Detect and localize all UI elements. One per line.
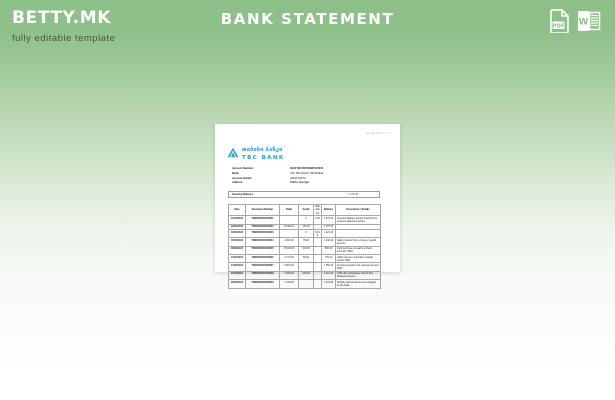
word-file-icon[interactable]: W [577,9,601,38]
table-row: 03/03/2024 TRN0000000000003 0 52.00 1 22… [229,229,381,237]
table-header-row: Date Document Number Debit Credit Curren… [229,204,381,215]
opening-balance-label: Opening Balance [232,193,330,196]
table-row: 12/03/2024 TRN0000000000006 4 270.00 60.… [229,255,381,263]
cell-currency [314,238,322,246]
cell-balance: 1 275.40 [322,216,336,224]
cell-description: Opening balance carried forward from pre… [336,216,381,224]
account-info-block: Account Number: GE11TB7238736080100003 B… [232,167,382,185]
cell-currency: 0.00 [314,216,322,224]
account-info-row: Address: Tbilisi, Georgia [232,181,382,186]
cell-currency [314,255,322,263]
cell-balance: 1 241.40 [322,271,336,279]
tbc-logo-text: თიბისი ბანკი TBC BANK [242,139,285,161]
tbc-triangle-icon [227,145,239,156]
cell-credit: 310.00 [299,246,314,254]
address-value: Tbilisi, Georgia [290,181,382,186]
column-header-debit: Debit [280,204,299,215]
tbc-logo-georgian: თიბისი ბანკი [242,147,282,153]
cell-currency [314,246,322,254]
cell-currency: 52.00 [314,229,322,237]
column-header-currency: Currency [314,204,322,215]
statement-document-preview[interactable]: Tel: +995 32 2 27 27 27 თიბისი ბანკი TBC… [215,124,400,272]
column-header-balance: Balance [322,204,336,215]
cell-credit [299,263,314,271]
address-label: Address: [232,181,290,186]
cell-date: 12/03/2024 [229,255,246,263]
cell-currency [314,280,322,288]
svg-text:W: W [579,18,589,28]
table-row: 08/03/2024 TRN0000000000005 15 400.00 31… [229,246,381,254]
cell-debit [280,229,299,237]
cell-description: Salary transfer from employer payroll ac… [336,238,381,246]
cell-debit: 15 400.00 [280,246,299,254]
cell-date: 05/03/2024 [229,238,246,246]
cell-document: TRN0000000000001 [246,216,280,224]
opening-balance-value: 1 275.40 [330,193,376,196]
opening-balance-bar: Opening Balance 1 275.40 [228,191,380,198]
cell-date: 03/03/2024 [229,229,246,237]
top-bar: BETTY.MK fully editable template BANK ST… [0,0,615,52]
table-row: 28/03/2024 TRN0000000000009 1 720.00 1 2… [229,280,381,288]
cell-credit: 60.00 [299,255,314,263]
cell-debit: 3 150.00 [280,271,299,279]
cell-credit [299,280,314,288]
cell-description [336,229,381,237]
cell-debit: 1 720.00 [280,280,299,288]
cell-description: Monthly account service fee charged by t… [336,280,381,288]
cell-document: TRN0000000000003 [246,229,280,237]
cell-balance: 1 056.40 [322,263,336,271]
cell-credit: 0 [299,229,314,237]
document-header-note: Tel: +995 32 2 27 27 27 [225,133,390,137]
table-row: 22/03/2024 TRN0000000000008 3 150.00 215… [229,271,381,279]
column-header-document: Document Number [246,204,280,215]
table-row: 05/03/2024 TRN0000000000004 2 000.00 75.… [229,238,381,246]
cell-description: Incoming transfer from savings account 0… [336,263,381,271]
transactions-table: Date Document Number Debit Credit Curren… [228,204,381,289]
brand-tagline: fully editable template [12,33,272,45]
format-badges: PDF W [550,9,601,38]
table-row: 01/03/2024 TRN0000000000001 0 0.00 1 275… [229,216,381,224]
page-title: BANK STATEMENT [0,10,615,28]
tbc-bank-logo: თიბისი ბანკი TBC BANK [227,139,390,161]
cell-balance: 1 148.40 [322,238,336,246]
transactions-table-body: 01/03/2024 TRN0000000000001 0 0.00 1 275… [229,216,381,288]
cell-date: 22/03/2024 [229,271,246,279]
cell-date: 17/03/2024 [229,263,246,271]
pdf-file-icon[interactable]: PDF [550,9,570,38]
cell-balance: 778.40 [322,255,336,263]
cell-currency [314,263,322,271]
column-header-description: Description / Details [336,204,381,215]
cell-date: 28/03/2024 [229,280,246,288]
cell-debit [280,216,299,224]
cell-date: 01/03/2024 [229,216,246,224]
cell-document: TRN0000000000005 [246,246,280,254]
cell-debit: 4 270.00 [280,255,299,263]
cell-document: TRN0000000000007 [246,263,280,271]
cell-debit: 8 900.00 [280,263,299,271]
cell-document: TRN0000000000008 [246,271,280,279]
cell-document: TRN0000000000006 [246,255,280,263]
cell-credit: 75.00 [299,238,314,246]
column-header-date: Date [229,204,246,215]
cell-description: Utility payment, electricity supplier in… [336,255,381,263]
cell-description: ATM cash withdrawal, branch 014 Rustavel… [336,271,381,279]
column-header-credit: Credit [299,204,314,215]
cell-currency [314,271,322,279]
svg-text:PDF: PDF [552,24,564,30]
cell-document: TRN0000000000004 [246,238,280,246]
cell-balance: 838.40 [322,246,336,254]
cell-credit: 215.00 [299,271,314,279]
table-row: 17/03/2024 TRN0000000000007 8 900.00 1 0… [229,263,381,271]
cell-credit: 0 [299,216,314,224]
cell-debit: 2 000.00 [280,238,299,246]
cell-balance: 1 241.40 [322,280,336,288]
cell-date: 08/03/2024 [229,246,246,254]
cell-description: Card purchase at retail merchant termina… [336,246,381,254]
cell-balance: 1 223.40 [322,229,336,237]
tbc-logo-latin: TBC BANK [242,156,285,161]
cell-document: TRN0000000000009 [246,280,280,288]
